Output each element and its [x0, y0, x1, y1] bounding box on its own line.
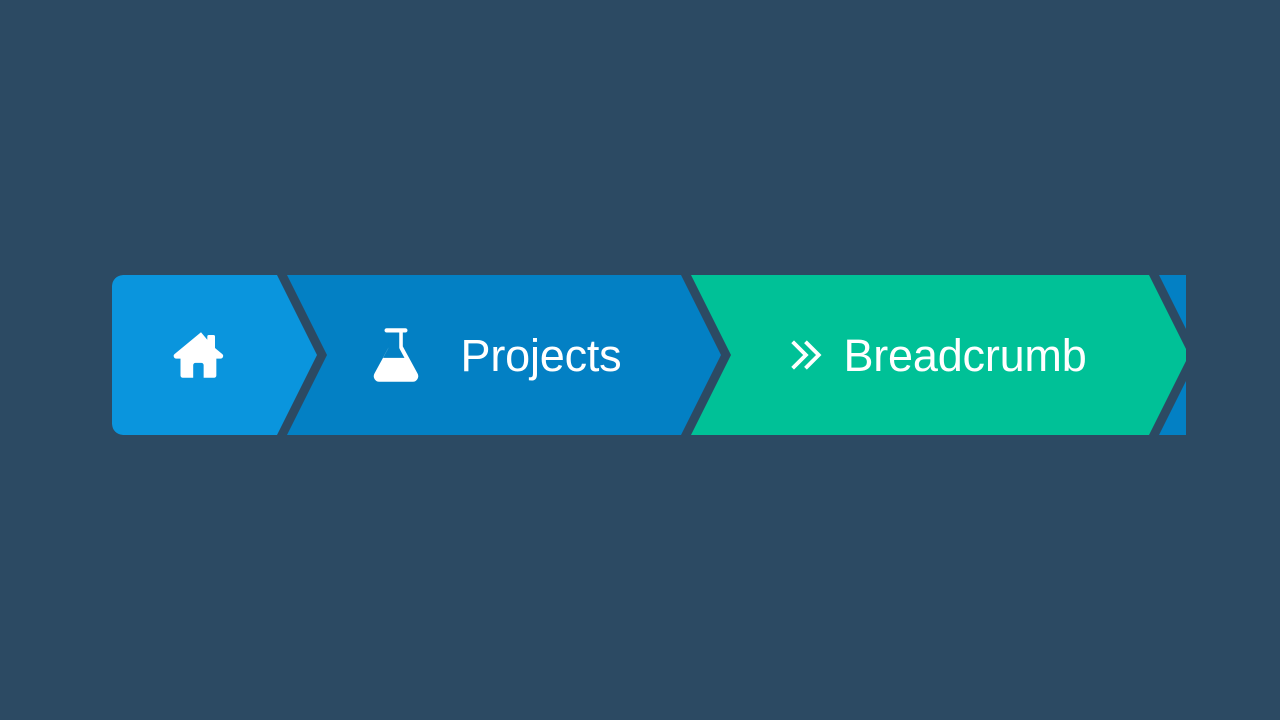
breadcrumb-item-breadcrumb-label: Breadcrumb [843, 333, 1086, 378]
home-icon [170, 324, 232, 386]
breadcrumb: Projects Breadcrumb [112, 275, 1186, 435]
breadcrumb-track: Projects Breadcrumb [112, 275, 1186, 435]
breadcrumb-item-projects[interactable]: Projects [287, 275, 721, 435]
breadcrumb-item-projects-label: Projects [461, 333, 622, 378]
breadcrumb-item-breadcrumb[interactable]: Breadcrumb [691, 275, 1186, 435]
flask-icon [371, 326, 421, 384]
breadcrumb-item-home[interactable] [112, 275, 317, 435]
page-root: Projects Breadcrumb [0, 0, 1280, 720]
double-chevron-right-icon [783, 333, 827, 377]
